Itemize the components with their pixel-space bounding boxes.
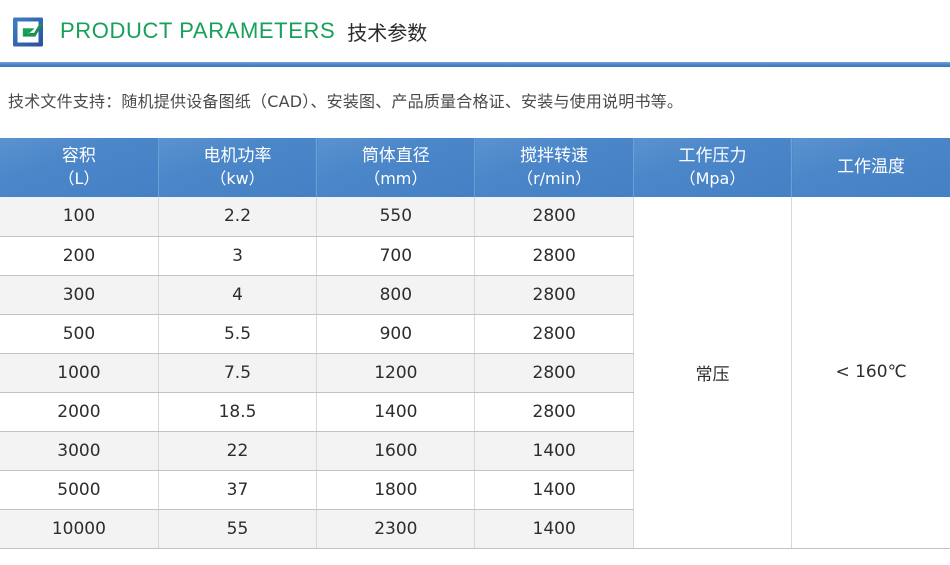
table-header-row: 容积 （L） 电机功率 （kw） 筒体直径 （mm） 搅拌转速 （r/min） … bbox=[0, 138, 950, 197]
cell-diameter: 900 bbox=[317, 314, 475, 353]
brand-logo-icon bbox=[10, 14, 46, 50]
cell-power: 22 bbox=[158, 431, 316, 470]
column-header-working-pressure-name: 工作压力 bbox=[678, 146, 746, 166]
table-header: 容积 （L） 电机功率 （kw） 筒体直径 （mm） 搅拌转速 （r/min） … bbox=[0, 138, 950, 197]
cell-working-pressure: 常压 bbox=[633, 197, 791, 548]
cell-volume: 10000 bbox=[0, 509, 158, 548]
cell-power: 5.5 bbox=[158, 314, 316, 353]
cell-speed: 1400 bbox=[475, 470, 633, 509]
cell-speed: 1400 bbox=[475, 431, 633, 470]
cell-diameter: 700 bbox=[317, 236, 475, 275]
column-header-stirring-speed-name: 搅拌转速 bbox=[520, 146, 588, 166]
description-text: 技术文件支持：随机提供设备图纸（CAD）、安装图、产品质量合格证、安装与使用说明… bbox=[8, 88, 683, 112]
cell-volume: 100 bbox=[0, 197, 158, 236]
cell-power: 7.5 bbox=[158, 353, 316, 392]
cell-working-temperature: < 160℃ bbox=[792, 197, 950, 548]
column-header-motor-power: 电机功率 （kw） bbox=[158, 138, 316, 197]
column-header-working-pressure: 工作压力 （Mpa） bbox=[633, 138, 791, 197]
cell-power: 55 bbox=[158, 509, 316, 548]
cell-diameter: 1800 bbox=[317, 470, 475, 509]
cell-diameter: 800 bbox=[317, 275, 475, 314]
cell-diameter: 1400 bbox=[317, 392, 475, 431]
cell-volume: 200 bbox=[0, 236, 158, 275]
cell-speed: 1400 bbox=[475, 509, 633, 548]
column-header-volume-unit: （L） bbox=[0, 168, 158, 190]
section-header: PRODUCT PARAMETERS 技术参数 bbox=[0, 0, 950, 62]
cell-power: 18.5 bbox=[158, 392, 316, 431]
column-header-motor-power-name: 电机功率 bbox=[203, 146, 271, 166]
cell-power: 37 bbox=[158, 470, 316, 509]
cell-diameter: 1600 bbox=[317, 431, 475, 470]
specification-table: 容积 （L） 电机功率 （kw） 筒体直径 （mm） 搅拌转速 （r/min） … bbox=[0, 138, 950, 549]
column-header-working-pressure-unit: （Mpa） bbox=[634, 168, 791, 190]
cell-diameter: 550 bbox=[317, 197, 475, 236]
column-header-working-temperature-name: 工作温度 bbox=[837, 157, 905, 177]
column-header-volume: 容积 （L） bbox=[0, 138, 158, 197]
cell-volume: 500 bbox=[0, 314, 158, 353]
column-header-working-temperature: 工作温度 bbox=[792, 138, 950, 197]
cell-speed: 2800 bbox=[475, 353, 633, 392]
page-title-english: PRODUCT PARAMETERS bbox=[60, 18, 335, 44]
cell-speed: 2800 bbox=[475, 197, 633, 236]
product-parameters-page: PRODUCT PARAMETERS 技术参数 技术文件支持：随机提供设备图纸（… bbox=[0, 0, 950, 565]
cell-volume: 300 bbox=[0, 275, 158, 314]
column-header-volume-name: 容积 bbox=[62, 146, 96, 166]
cell-speed: 2800 bbox=[475, 275, 633, 314]
cell-power: 3 bbox=[158, 236, 316, 275]
column-header-motor-power-unit: （kw） bbox=[159, 168, 316, 190]
cell-volume: 5000 bbox=[0, 470, 158, 509]
cell-diameter: 2300 bbox=[317, 509, 475, 548]
column-header-barrel-diameter-unit: （mm） bbox=[317, 168, 474, 190]
cell-volume: 1000 bbox=[0, 353, 158, 392]
table-row: 100 2.2 550 2800 常压 < 160℃ bbox=[0, 197, 950, 236]
cell-speed: 2800 bbox=[475, 314, 633, 353]
cell-volume: 2000 bbox=[0, 392, 158, 431]
column-header-barrel-diameter-name: 筒体直径 bbox=[362, 146, 430, 166]
table-body: 100 2.2 550 2800 常压 < 160℃ 200 3 700 280… bbox=[0, 197, 950, 548]
title-divider bbox=[0, 62, 950, 67]
column-header-stirring-speed-unit: （r/min） bbox=[475, 168, 632, 190]
page-title-chinese: 技术参数 bbox=[347, 17, 427, 46]
cell-speed: 2800 bbox=[475, 392, 633, 431]
cell-power: 4 bbox=[158, 275, 316, 314]
cell-volume: 3000 bbox=[0, 431, 158, 470]
column-header-stirring-speed: 搅拌转速 （r/min） bbox=[475, 138, 633, 197]
cell-diameter: 1200 bbox=[317, 353, 475, 392]
cell-power: 2.2 bbox=[158, 197, 316, 236]
column-header-barrel-diameter: 筒体直径 （mm） bbox=[317, 138, 475, 197]
cell-speed: 2800 bbox=[475, 236, 633, 275]
